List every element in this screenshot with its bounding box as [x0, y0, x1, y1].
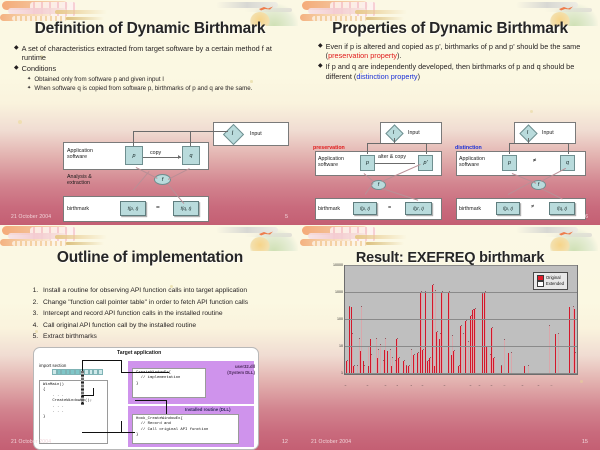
chart-bar-original [363, 361, 364, 374]
legend-label-extended: Extended [546, 281, 564, 287]
chart-bar-original [484, 292, 485, 374]
preservation-property-term: preservation property [328, 51, 397, 60]
chart-bar-original [387, 351, 388, 374]
chart-y-tick-label: 1000 [335, 290, 343, 294]
birthmark-left: f(p, I) [353, 202, 377, 215]
slide-page-number: 12 [282, 439, 288, 445]
application-software-label: Application software [459, 156, 495, 168]
input-label: Input [250, 131, 262, 137]
chart-x-axis-labels: GetModuleHandleAGetStartupInfoAGetVersio… [344, 385, 578, 425]
chart-bar-original [429, 358, 430, 374]
birthmark-right: f(q, I) [173, 201, 199, 216]
bullet-item: ◆ A set of characteristics extracted fro… [14, 44, 290, 62]
slide-page-number: 15 [582, 439, 588, 445]
legend-label-original: Original [546, 275, 561, 281]
chart-y-tick-label: 10 [339, 344, 343, 348]
slide-footer-date: 21 October 2004 [311, 439, 351, 445]
list-item: Intercept and record API function calls … [40, 308, 300, 320]
input-symbol: I [522, 127, 533, 138]
legend-entry-extended: Extended [537, 281, 564, 287]
target-application-label: Target application [117, 351, 161, 357]
chart-bar-original [508, 353, 509, 374]
diamond-bullet-icon: ◆ [14, 44, 19, 51]
birthmark-relation: = [156, 204, 160, 211]
bullet-text: Even if p is altered and copied as p', b… [326, 42, 588, 60]
connector-horizontal [82, 360, 122, 361]
input-symbol: I [388, 127, 399, 138]
chart-bar-original [432, 285, 433, 374]
chart-bar-original [396, 339, 397, 374]
input-symbol: I [226, 127, 239, 140]
chart-bar-original [351, 307, 352, 374]
pointer-hatch-bar [81, 371, 84, 405]
node-p: p [502, 155, 517, 171]
legend-swatch-extended [537, 281, 543, 287]
slide-page-number: 5 [285, 214, 288, 220]
application-software-label: Application software [318, 156, 354, 168]
chart-bar-original [451, 355, 452, 374]
chart-bar-original [417, 353, 418, 374]
chart-bar-original [482, 294, 483, 374]
chart-plot-area: Original Extended 110100100010000 [344, 265, 578, 375]
list-item: Install a routine for observing API func… [40, 285, 300, 297]
chart-bar-slot [574, 266, 576, 374]
bullet-text: A set of characteristics extracted from … [22, 44, 290, 62]
winmain-code-block: WinMain() { . . . CreateWindowEx(); . . … [39, 380, 108, 444]
slide-definition-of-dynamic-birthmark[interactable]: Definition of Dynamic Birthmark ◆ A set … [0, 0, 300, 225]
page-title: Definition of Dynamic Birthmark [0, 20, 300, 38]
alter-copy-edge-label: alter & copy [378, 154, 406, 160]
chart-bar-original [470, 316, 471, 374]
crane-icon [258, 230, 274, 237]
birthmark-left: f(p, I) [120, 201, 146, 216]
chart-bar-original [448, 292, 449, 374]
slide-deck-grid: Definition of Dynamic Birthmark ◆ A set … [0, 0, 600, 450]
bullet-item: ◆ Even if p is altered and copied as p',… [318, 42, 588, 60]
chart-bar-original [460, 326, 461, 374]
diamond-small-bullet-icon: ✦ [27, 85, 31, 92]
sub-bullet-text: When software q is copied from software … [34, 85, 252, 93]
birthmark-right: f(p', I) [405, 202, 432, 215]
page-title: Properties of Dynamic Birthmark [300, 20, 600, 38]
chart-bar-original [370, 339, 371, 374]
list-item: Change "function call pointer table" in … [40, 297, 300, 309]
chart-y-tick-label: 100 [337, 317, 343, 321]
decorative-header-band [0, 225, 300, 251]
slide-result-exefreq-birthmark[interactable]: Result: EXEFREQ birthmark Original Exten… [300, 225, 600, 450]
chart-bar-original [422, 350, 423, 374]
crane-icon [258, 5, 274, 12]
slide-body: ◆ Even if p is altered and copied as p',… [318, 42, 588, 83]
chart-bar-original [486, 347, 487, 374]
birthmark-left: f(p, I) [496, 202, 520, 215]
chart-bar-original [555, 334, 556, 374]
chart-bar-original [398, 358, 399, 374]
bullet-item: ◆ Conditions [14, 64, 290, 73]
chart-bar-original [465, 321, 466, 374]
node-q: q [182, 146, 200, 165]
import-section-table [52, 369, 103, 375]
birthmark-right: f(q, I) [549, 202, 575, 215]
sub-bullet-item: ✦ When software q is copied from softwar… [27, 85, 290, 93]
application-software-label: Application software [67, 148, 107, 160]
page-title: Outline of implementation [0, 249, 300, 267]
chart-y-tick-label: 1 [341, 371, 343, 375]
chart-y-tick-label: 10000 [333, 263, 343, 267]
distinction-property-term: distinction property [356, 72, 417, 81]
slide-properties-of-dynamic-birthmark[interactable]: Properties of Dynamic Birthmark ◆ Even i… [300, 0, 600, 225]
system-dll-label: user32.dll (System DLL) [209, 364, 255, 375]
diamond-bullet-icon: ◆ [14, 64, 19, 71]
chart-bar-original [493, 358, 494, 374]
import-section-label: import section [39, 363, 66, 369]
chart-bar-original [441, 292, 442, 374]
chart-bar-original [403, 361, 404, 374]
bullet-text: Conditions [22, 64, 56, 73]
slide-footer-date: 21 October 2004 [11, 439, 51, 445]
chart-bar-original [439, 339, 440, 374]
chart-bar-original [425, 292, 426, 374]
chart-bar-original [349, 307, 350, 374]
chart-gridline: 10000 [345, 265, 577, 266]
chart-gridline: 1 [345, 373, 577, 374]
chart-gridline: 10 [345, 346, 577, 347]
implementation-steps-list: Install a routine for observing API func… [24, 285, 300, 343]
bullet-text: If p and q are independently developed, … [326, 62, 588, 80]
list-item: Call original API function call by the i… [40, 320, 300, 332]
birthmark-label: birthmark [318, 206, 340, 212]
diamond-small-bullet-icon: ✦ [27, 76, 31, 83]
slide-footer-date: 21 October 2004 [11, 214, 51, 220]
connector-horizontal [121, 372, 169, 373]
chart-bar-original [384, 350, 385, 374]
chart-bar-original [427, 361, 428, 374]
chart-gridline: 1000 [345, 292, 577, 293]
birthmark-label: birthmark [67, 206, 89, 212]
chart-legend: Original Extended [533, 272, 568, 290]
slide-page-number: 6 [585, 214, 588, 220]
chart-bar-original [453, 351, 454, 374]
input-label: Input [408, 130, 420, 136]
crane-icon [558, 230, 574, 237]
chart-bar-extended [575, 352, 576, 374]
chart-gridline: 100 [345, 319, 577, 320]
list-item: Extract birthmarks [40, 331, 300, 343]
installed-routine-label: Installed routine (DLL) [185, 407, 231, 413]
exefreq-bar-chart[interactable]: Original Extended 110100100010000 GetMod… [318, 263, 586, 391]
chart-bar-original [413, 355, 414, 374]
decorative-header-band [300, 225, 600, 251]
bullet-item: ◆ If p and q are independently developed… [318, 62, 588, 80]
node-p: p [360, 155, 375, 171]
chart-bar-original [569, 307, 570, 374]
birthmark-relation: = [388, 205, 391, 211]
chart-bar-original [360, 351, 361, 374]
diamond-bullet-icon: ◆ [318, 62, 323, 69]
chart-bar-original [377, 358, 378, 374]
crane-icon [558, 5, 574, 12]
chart-bar-original [420, 292, 421, 374]
sub-bullet-text: Obtained only from software p and given … [34, 76, 164, 84]
input-label: Input [542, 130, 554, 136]
node-p: p [125, 146, 143, 165]
chart-bar-original [346, 361, 347, 374]
chart-bar-original [491, 328, 492, 374]
installed-routine-code-block: Hook_CreateWindowEx{ // Record and // Ca… [132, 414, 239, 444]
slide-body: ◆ A set of characteristics extracted fro… [14, 44, 290, 94]
node-relation: ≠ [533, 158, 536, 164]
copy-edge-label: copy [150, 150, 161, 156]
chart-bar-original [436, 332, 437, 374]
birthmark-label: birthmark [459, 206, 481, 212]
analysis-extraction-label: Analysis & extraction [67, 174, 109, 186]
slide-outline-of-implementation[interactable]: Outline of implementation Install a rout… [0, 225, 300, 450]
birthmark-relation: ≠ [531, 204, 534, 210]
sub-bullet-item: ✦ Obtained only from software p and give… [27, 76, 290, 84]
diamond-bullet-icon: ◆ [318, 42, 323, 49]
